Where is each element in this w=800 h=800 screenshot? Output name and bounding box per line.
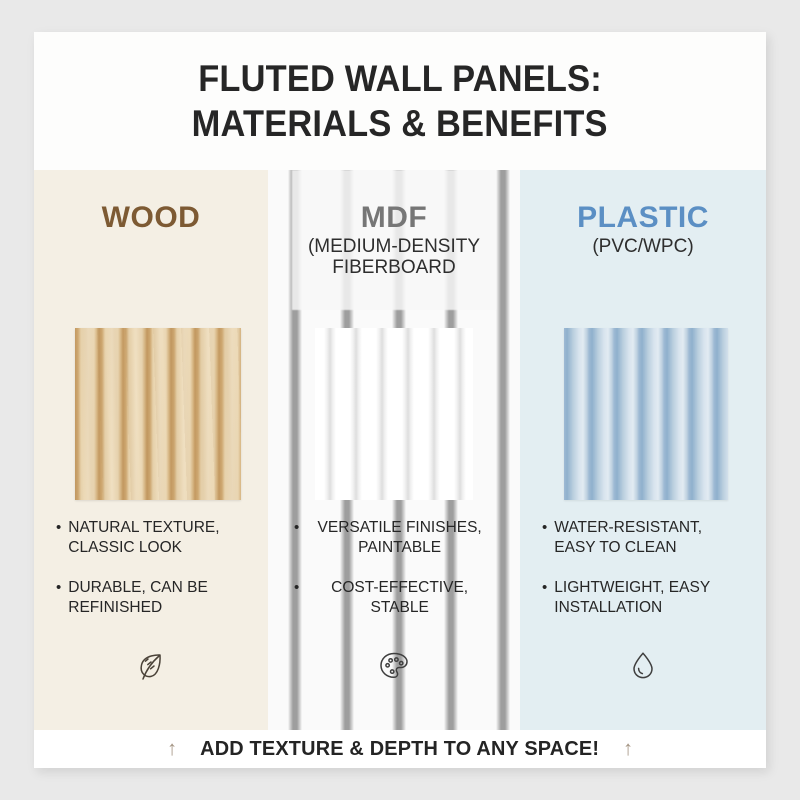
- arrow-up-left-icon: ↑: [167, 737, 177, 761]
- column-mdf-heading: MDF (MEDIUM-DENSITY FIBERBOARD: [268, 170, 520, 279]
- column-plastic-heading: PLASTIC (PVC/WPC): [520, 170, 766, 257]
- list-item-label: WATER-RESISTANT, EASY TO CLEAN: [554, 518, 744, 558]
- list-item-label: DURABLE, CAN BE REFINISHED: [68, 578, 246, 618]
- bullet-marker: •: [542, 578, 547, 598]
- materials-columns: WOOD • NATURAL TEXTURE, CLASSIC LOOK • D…: [34, 170, 766, 730]
- plastic-fluted-panel-swatch: [564, 328, 728, 500]
- header: FLUTED WALL PANELS: MATERIALS & BENEFITS: [34, 32, 766, 170]
- column-wood-icon: [34, 649, 268, 688]
- column-plastic-subtitle: (PVC/WPC): [520, 236, 766, 258]
- column-wood-title: WOOD: [34, 202, 268, 234]
- column-mdf-title: MDF: [268, 202, 520, 234]
- footer-inner: ↑ ADD TEXTURE & DEPTH TO ANY SPACE! ↑ ↑: [167, 737, 633, 761]
- list-item-label: COST-EFFECTIVE, STABLE: [305, 578, 494, 618]
- page-canvas: FLUTED WALL PANELS: MATERIALS & BENEFITS…: [0, 0, 800, 800]
- footer-banner: ↑ ADD TEXTURE & DEPTH TO ANY SPACE! ↑ ↑: [34, 730, 766, 768]
- leaf-icon: [134, 649, 168, 688]
- bullet-marker: •: [294, 578, 299, 598]
- page-title-line-2: MATERIALS & BENEFITS: [192, 101, 608, 146]
- list-item-label: NATURAL TEXTURE, CLASSIC LOOK: [68, 518, 246, 558]
- list-item: • COST-EFFECTIVE, STABLE: [290, 578, 498, 618]
- list-item: • DURABLE, CAN BE REFINISHED: [56, 578, 246, 618]
- column-wood-heading: WOOD: [34, 170, 268, 234]
- water-droplet-icon: [626, 649, 660, 688]
- list-item: • WATER-RESISTANT, EASY TO CLEAN: [542, 518, 744, 558]
- column-mdf-icon: [268, 649, 520, 688]
- wood-slat-panel-swatch: [75, 328, 241, 500]
- column-plastic[interactable]: PLASTIC (PVC/WPC) • WATER-RESISTANT, EAS…: [520, 170, 766, 730]
- list-item: • LIGHTWEIGHT, EASY INSTALLATION: [542, 578, 744, 618]
- list-item-label: LIGHTWEIGHT, EASY INSTALLATION: [554, 578, 744, 618]
- column-wood[interactable]: WOOD • NATURAL TEXTURE, CLASSIC LOOK • D…: [34, 170, 268, 730]
- bullet-marker: •: [542, 518, 547, 538]
- list-item: • VERSATILE FINISHES, PAINTABLE: [290, 518, 498, 558]
- footer-text: ADD TEXTURE & DEPTH TO ANY SPACE!: [200, 737, 599, 761]
- column-wood-bullets: • NATURAL TEXTURE, CLASSIC LOOK • DURABL…: [34, 518, 268, 639]
- column-mdf-subtitle: (MEDIUM-DENSITY FIBERBOARD: [268, 236, 520, 279]
- arrow-up-bottom-icon: ↑: [395, 763, 405, 768]
- bullet-marker: •: [294, 518, 299, 538]
- infographic-card: FLUTED WALL PANELS: MATERIALS & BENEFITS…: [34, 32, 766, 768]
- column-plastic-title: PLASTIC: [520, 202, 766, 234]
- arrow-up-right-icon: ↑: [623, 737, 633, 761]
- paint-palette-icon: [377, 649, 411, 688]
- column-mdf[interactable]: MDF (MEDIUM-DENSITY FIBERBOARD • VERSATI…: [268, 170, 520, 730]
- column-plastic-icon: [520, 649, 766, 688]
- bullet-marker: •: [56, 578, 61, 598]
- column-mdf-bullets: • VERSATILE FINISHES, PAINTABLE • COST-E…: [268, 518, 520, 639]
- list-item: • NATURAL TEXTURE, CLASSIC LOOK: [56, 518, 246, 558]
- bullet-marker: •: [56, 518, 61, 538]
- list-item-label: VERSATILE FINISHES, PAINTABLE: [305, 518, 494, 558]
- column-plastic-bullets: • WATER-RESISTANT, EASY TO CLEAN • LIGHT…: [520, 518, 766, 639]
- mdf-fluted-panel-swatch: [315, 328, 473, 500]
- page-title-line-1: FLUTED WALL PANELS:: [198, 56, 602, 101]
